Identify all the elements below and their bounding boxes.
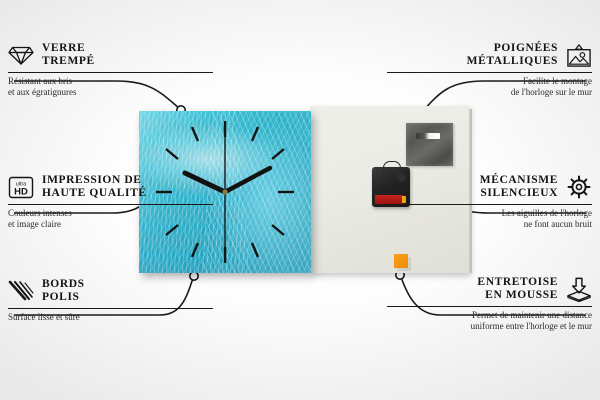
feature-subtitle-line2: et image claire bbox=[8, 219, 61, 229]
feature-verre-trempe: VERRE TREMPÉ Résistant aux bris et aux é… bbox=[8, 42, 213, 98]
feature-divider bbox=[8, 308, 213, 309]
feature-subtitle-line1: Couleurs intenses bbox=[8, 208, 72, 218]
feature-header: POIGNÉES MÉTALLIQUES bbox=[387, 42, 592, 68]
feature-title-line2: HAUTE QUALITÉ bbox=[42, 187, 147, 199]
feature-title-line1: MÉCANISME bbox=[480, 174, 558, 186]
feature-title-line1: VERRE bbox=[42, 42, 85, 54]
feature-subtitle-line2: ne font aucun bruit bbox=[524, 219, 592, 229]
feature-title-line2: TREMPÉ bbox=[42, 55, 95, 67]
feature-title-line1: ENTRETOISE bbox=[477, 276, 558, 288]
polished-edges-icon bbox=[8, 278, 34, 304]
feature-subtitle: Couleurs intenses et image claire bbox=[8, 208, 213, 230]
mechanism-hook-icon bbox=[383, 161, 401, 171]
foam-spacer bbox=[394, 254, 408, 268]
feature-title-line2: EN MOUSSE bbox=[485, 289, 558, 301]
feature-header: MÉCANISME SILENCIEUX bbox=[387, 174, 592, 200]
feature-subtitle: Permet de maintenir une distance uniform… bbox=[387, 310, 592, 332]
feature-header: ultra HD IMPRESSION DE HAUTE QUALITÉ bbox=[8, 174, 213, 200]
feature-title: BORDS POLIS bbox=[42, 278, 85, 304]
feature-divider bbox=[387, 72, 592, 73]
feature-title: ENTRETOISE EN MOUSSE bbox=[477, 276, 558, 302]
feature-title: IMPRESSION DE HAUTE QUALITÉ bbox=[42, 174, 147, 200]
picture-hanger-icon bbox=[566, 42, 592, 68]
feature-title: VERRE TREMPÉ bbox=[42, 42, 95, 68]
feature-title-line2: MÉTALLIQUES bbox=[467, 55, 558, 67]
diamond-icon bbox=[8, 42, 34, 68]
feature-title-line1: BORDS bbox=[42, 278, 85, 290]
feature-poignees-metalliques: POIGNÉES MÉTALLIQUES Facilite le montage… bbox=[387, 42, 592, 98]
svg-text:HD: HD bbox=[14, 186, 28, 197]
feature-subtitle-line2: et aux égratignures bbox=[8, 87, 76, 97]
feature-subtitle: Facilite le montage de l'horloge sur le … bbox=[387, 76, 592, 98]
feature-subtitle-line1: Permet de maintenir une distance bbox=[472, 310, 592, 320]
feature-header: BORDS POLIS bbox=[8, 278, 213, 304]
hanger-slot-icon bbox=[416, 133, 440, 139]
feature-subtitle-line2: uniforme entre l'horloge et le mur bbox=[471, 321, 592, 331]
feature-impression-hd: ultra HD IMPRESSION DE HAUTE QUALITÉ Cou… bbox=[8, 174, 213, 230]
clock-center-cap bbox=[222, 189, 227, 194]
infographic-stage: VERRE TREMPÉ Résistant aux bris et aux é… bbox=[0, 0, 600, 400]
feature-subtitle-line1: Facilite le montage bbox=[523, 76, 592, 86]
feature-bords-polis: BORDS POLIS Surface lisse et sûre bbox=[8, 278, 213, 323]
feature-title-line1: IMPRESSION DE bbox=[42, 174, 142, 186]
feature-header: VERRE TREMPÉ bbox=[8, 42, 213, 68]
feature-title-line1: POIGNÉES bbox=[494, 42, 558, 54]
feature-title: MÉCANISME SILENCIEUX bbox=[480, 174, 558, 200]
feature-divider bbox=[8, 72, 213, 73]
feature-title-line2: POLIS bbox=[42, 291, 80, 303]
feature-subtitle-line1: Les aiguilles de l'horloge bbox=[502, 208, 592, 218]
feature-subtitle: Résistant aux bris et aux égratignures bbox=[8, 76, 213, 98]
hanger-plate bbox=[406, 123, 453, 166]
feature-title-line2: SILENCIEUX bbox=[480, 187, 558, 199]
feature-divider bbox=[387, 204, 592, 205]
minute-hand bbox=[225, 168, 270, 192]
feature-mecanisme-silencieux: MÉCANISME SILENCIEUX Les aiguilles de l'… bbox=[387, 174, 592, 230]
feature-subtitle-line2: de l'horloge sur le mur bbox=[511, 87, 592, 97]
feature-subtitle-line1: Surface lisse et sûre bbox=[8, 312, 80, 322]
feature-subtitle-line1: Résistant aux bris bbox=[8, 76, 72, 86]
foam-spacer-icon bbox=[566, 276, 592, 302]
gear-icon bbox=[566, 174, 592, 200]
feature-entretoise-mousse: ENTRETOISE EN MOUSSE Permet de maintenir… bbox=[387, 276, 592, 332]
feature-subtitle: Les aiguilles de l'horloge ne font aucun… bbox=[387, 208, 592, 230]
ultra-hd-icon: ultra HD bbox=[8, 174, 34, 200]
feature-title: POIGNÉES MÉTALLIQUES bbox=[467, 42, 558, 68]
feature-divider bbox=[387, 306, 592, 307]
feature-subtitle: Surface lisse et sûre bbox=[8, 312, 213, 323]
feature-divider bbox=[8, 204, 213, 205]
feature-header: ENTRETOISE EN MOUSSE bbox=[387, 276, 592, 302]
